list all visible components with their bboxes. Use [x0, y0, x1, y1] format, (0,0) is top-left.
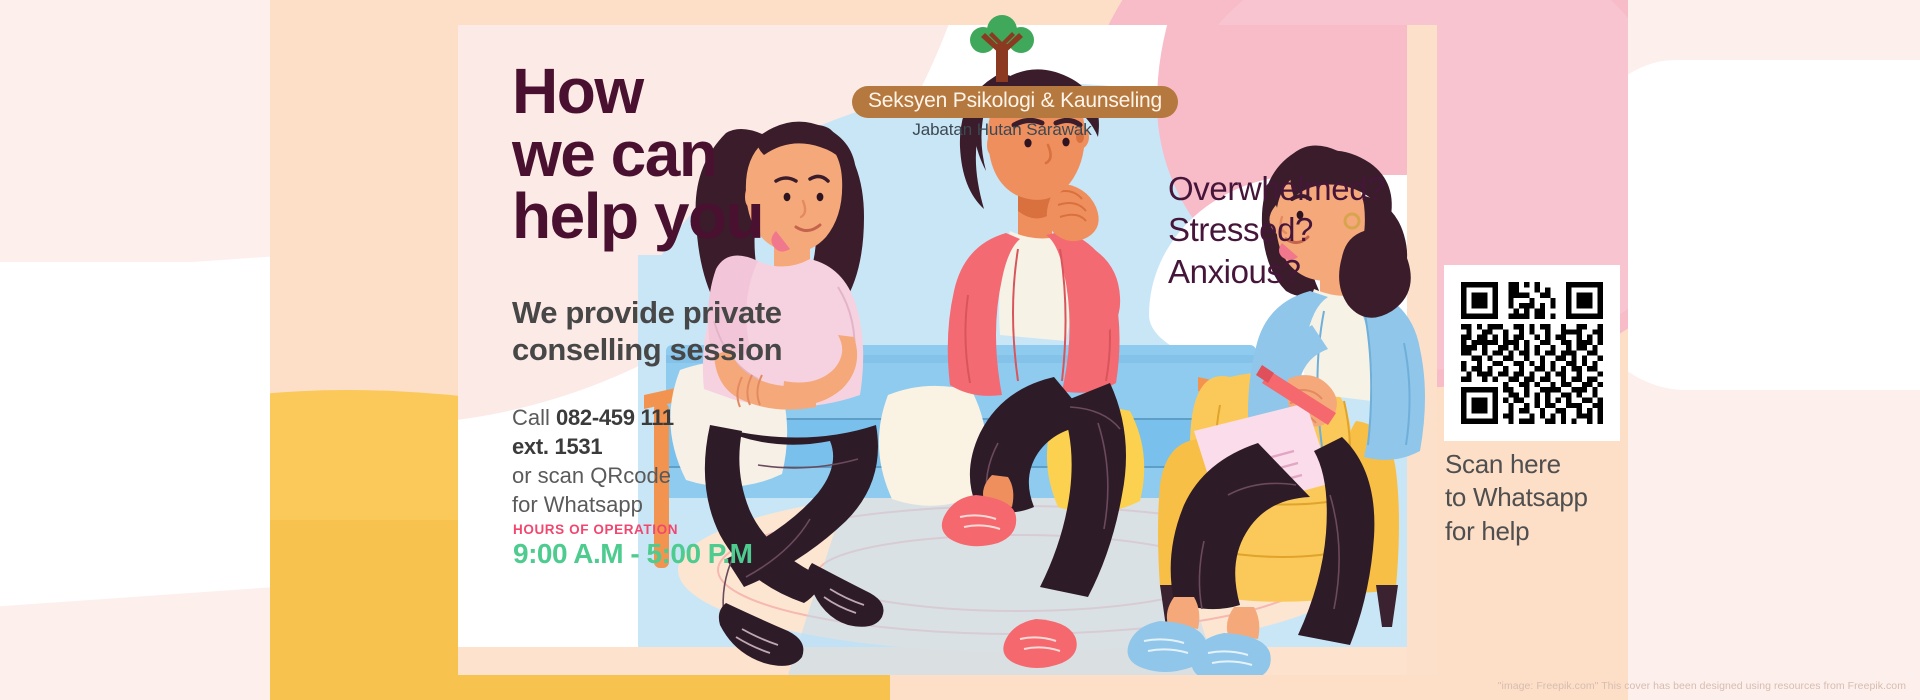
- headline-line-3: help you: [512, 185, 942, 248]
- hours-value: 9:00 A.M - 5:00 P.M: [513, 538, 752, 570]
- logo-subtitle: Jabatan Hutan Sarawak: [852, 120, 1152, 140]
- image-credit: "image: Freepik.com" This cover has been…: [1498, 680, 1906, 692]
- logo-department-pill: Seksyen Psikologi & Kaunseling: [852, 86, 1178, 118]
- contact-block: Call 082-459 111 ext. 1531 or scan QRcod…: [512, 403, 842, 519]
- question-line-3: Anxious?: [1168, 251, 1385, 292]
- qr-caption-line-1: Scan here: [1445, 448, 1645, 481]
- question-line-2: Stressed?: [1168, 209, 1385, 250]
- contact-call-line: Call 082-459 111: [512, 403, 842, 432]
- hours-label: HOURS OF OPERATION: [513, 522, 678, 537]
- qr-code-card[interactable]: [1444, 265, 1620, 441]
- subtitle-line-1: We provide private: [512, 295, 892, 332]
- phone-number: 082-459 111: [556, 405, 674, 430]
- subtitle-line-2: conselling session: [512, 332, 892, 369]
- call-prefix-label: Call: [512, 405, 556, 430]
- questions-block: Overwhelmed? Stressed? Anxious?: [1168, 168, 1385, 292]
- poster-canvas: How we can help you We provide private c…: [0, 0, 1920, 700]
- contact-line-4: for Whatsapp: [512, 490, 842, 519]
- phone-extension: ext. 1531: [512, 434, 602, 459]
- qr-caption-line-2: to Whatsapp: [1445, 481, 1645, 514]
- qr-caption-line-3: for help: [1445, 515, 1645, 548]
- tree-icon: [959, 12, 1045, 84]
- background-wave-right-fill: [1580, 95, 1920, 360]
- subtitle: We provide private conselling session: [512, 295, 892, 368]
- contact-ext-line: ext. 1531: [512, 432, 842, 461]
- contact-line-3: or scan QRcode: [512, 461, 842, 490]
- qr-code-icon[interactable]: [1456, 277, 1608, 429]
- organisation-logo: Seksyen Psikologi & Kaunseling Jabatan H…: [852, 12, 1152, 140]
- question-line-1: Overwhelmed?: [1168, 168, 1385, 209]
- qr-caption: Scan here to Whatsapp for help: [1445, 448, 1645, 548]
